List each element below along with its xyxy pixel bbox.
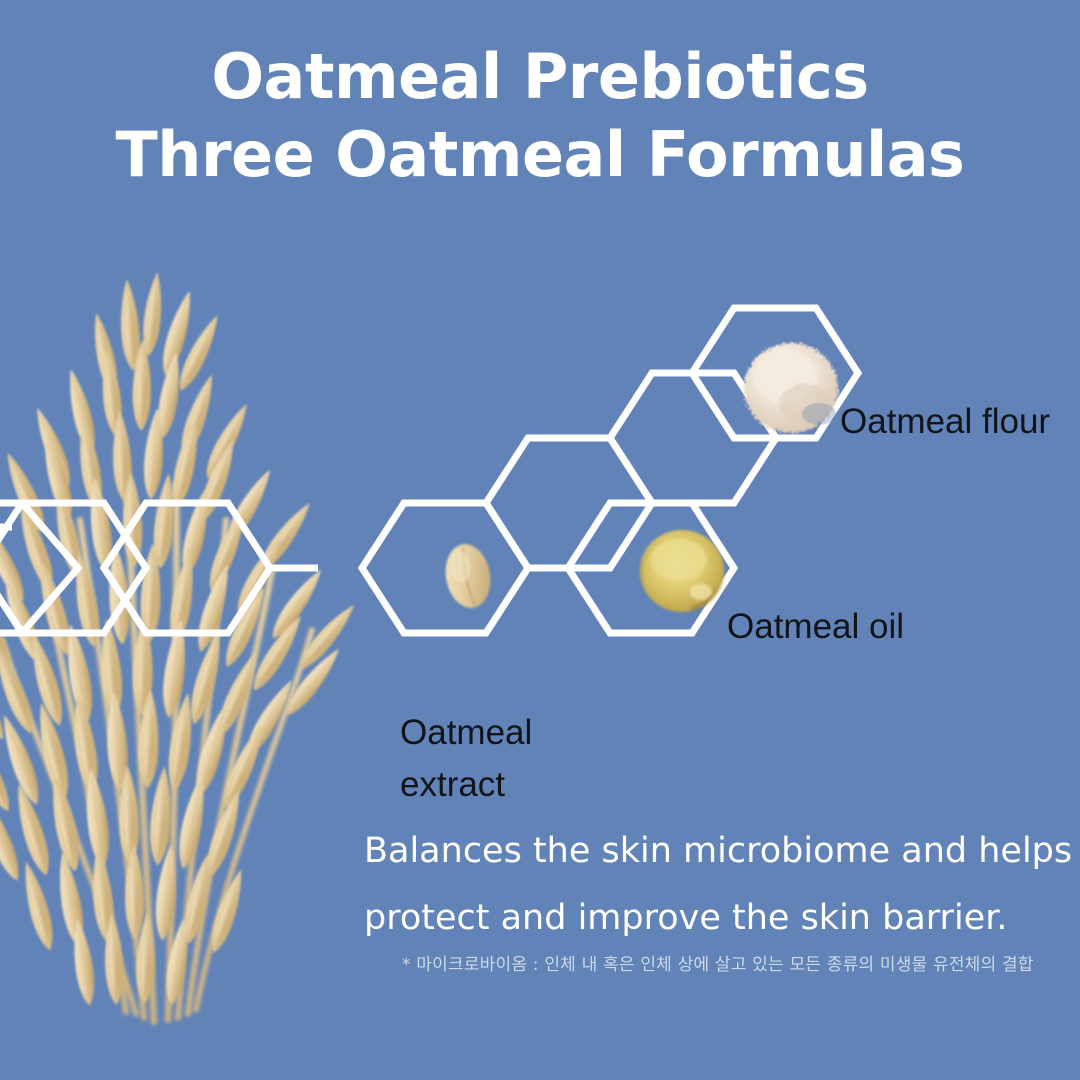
label-oatmeal-flour: Oatmeal flour xyxy=(840,396,1050,448)
body-line-2: protect and improve the skin barrier. xyxy=(364,885,1080,952)
body-copy: Balances the skin microbiome and helps p… xyxy=(364,818,1080,952)
label-oatmeal-extract: Oatmeal extract xyxy=(400,655,532,811)
oat-oil-droplet-image xyxy=(633,524,731,618)
footnote-microbiome: * 마이크로바이옴 : 인체 내 혹은 인체 상에 살고 있는 모든 종류의 미… xyxy=(402,952,1080,978)
label-oatmeal-extract-line1: Oatmeal extract xyxy=(400,713,532,804)
page-title: Oatmeal Prebiotics Three Oatmeal Formula… xyxy=(0,38,1080,194)
oat-grain-image xyxy=(436,537,500,615)
body-line-1: Balances the skin microbiome and helps xyxy=(364,818,1080,885)
hex-outline-middle xyxy=(486,438,652,568)
title-line-1: Oatmeal Prebiotics xyxy=(0,38,1080,116)
oat-flour-powder-image xyxy=(733,330,851,442)
title-line-2: Three Oatmeal Formulas xyxy=(0,116,1080,194)
label-oatmeal-oil: Oatmeal oil xyxy=(727,601,904,653)
dried-oat-bundle-image xyxy=(0,270,400,1030)
poster-canvas: Oatmeal Prebiotics Three Oatmeal Formula… xyxy=(0,0,1080,1080)
